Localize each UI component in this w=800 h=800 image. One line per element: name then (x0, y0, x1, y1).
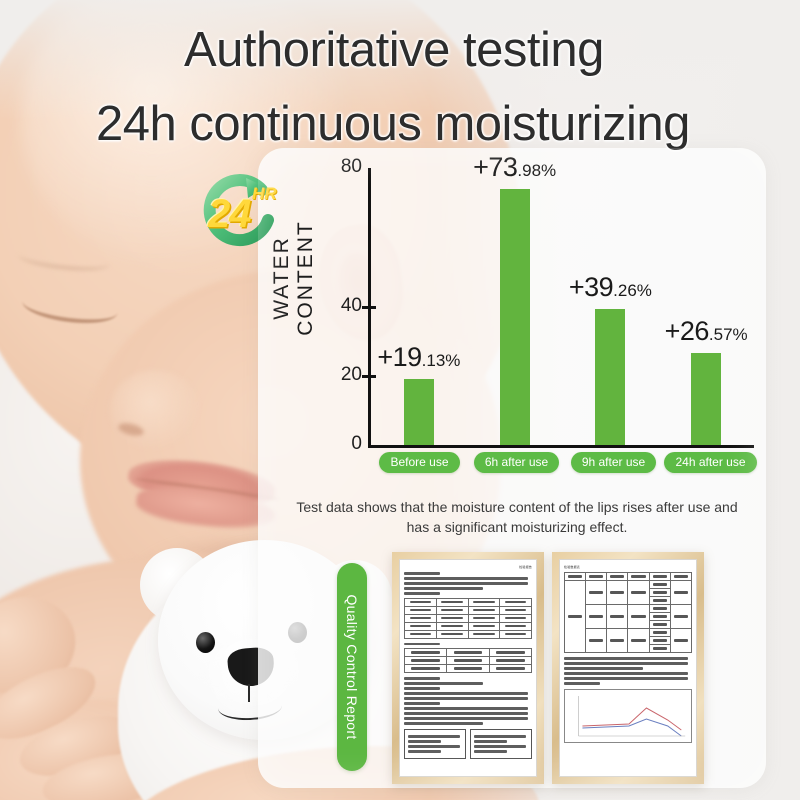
document-data-table (564, 572, 692, 653)
x-axis-line (368, 445, 754, 448)
bar (404, 379, 434, 445)
document-text-line (564, 682, 600, 685)
document-text-line (474, 750, 507, 753)
headline-primary: Authoritative testing (184, 22, 604, 78)
bar-data-label: +26.57% (665, 316, 748, 347)
document-text-line (564, 677, 688, 680)
category-pill: 6h after use (474, 452, 559, 473)
quality-control-report-label: Quality Control Report (344, 594, 360, 739)
y-axis-tick-labels: 0204080 (320, 168, 362, 448)
document-text-line (404, 697, 528, 700)
document-text-line (404, 587, 483, 590)
document-text-line (404, 577, 528, 580)
y-tick-label: 0 (322, 433, 362, 455)
document-text-line (404, 707, 528, 710)
document-text-line (404, 592, 440, 595)
document-text-line (474, 735, 526, 738)
bar-slot: +26.57% (658, 168, 754, 445)
bar-data-label-decimal: .98% (517, 161, 556, 180)
document-text-line (564, 662, 688, 665)
bar-data-label-decimal: .26% (613, 281, 652, 300)
document-text-line (564, 667, 643, 670)
document-text-line (404, 692, 528, 695)
bar-data-label-decimal: .13% (422, 351, 461, 370)
y-tick-label: 40 (322, 295, 362, 317)
bar-slot: +39.26% (563, 168, 659, 445)
test-report-thumbnail-left[interactable]: 检验报告 (392, 552, 544, 784)
category-slot: 24h after use (662, 452, 759, 473)
document-text-line (474, 740, 507, 743)
bar-data-label: +19.13% (377, 342, 460, 373)
y-tick-mark (362, 306, 376, 309)
chart-caption: Test data shows that the moisture conten… (292, 497, 742, 538)
bar-data-label-value: +39 (569, 272, 613, 302)
y-tick-label: 20 (322, 364, 362, 386)
badge-number: 24 (208, 192, 251, 237)
document-text-line (404, 682, 483, 685)
document-text-line (564, 672, 688, 675)
document-line-chart (564, 689, 692, 743)
document-text-line (408, 750, 441, 753)
document-text-line (408, 735, 460, 738)
document-page: 检验数据表 (559, 559, 697, 777)
document-page: 检验报告 (399, 559, 537, 777)
mini-line-chart-svg (565, 690, 691, 742)
document-text-line (404, 643, 440, 646)
bar-slot: +73.98% (467, 168, 563, 445)
bar-data-label: +39.26% (569, 272, 652, 303)
bar-data-label-decimal: .57% (709, 325, 748, 344)
bar-slot: +19.13% (371, 168, 467, 445)
document-text-line (564, 657, 688, 660)
teddy-eye (196, 632, 215, 653)
document-text-line (404, 582, 528, 585)
document-text-line (404, 712, 528, 715)
document-box (404, 729, 466, 760)
bar-data-label: +73.98% (473, 152, 556, 183)
bars-plot-area: +19.13%+73.98%+39.26%+26.57% (371, 168, 754, 445)
document-text-line (404, 572, 440, 575)
category-slot: 9h after use (565, 452, 662, 473)
document-bottom-boxes (404, 729, 532, 760)
document-header-right: 检验数据表 (564, 565, 692, 569)
promo-image: Authoritative testing 24h continuous moi… (0, 0, 800, 800)
quality-control-report-tab[interactable]: Quality Control Report (337, 563, 367, 771)
bar (691, 353, 721, 445)
x-axis-category-pills: Before use6h after use9h after use24h af… (371, 452, 759, 474)
y-tick-label: 80 (322, 156, 362, 178)
document-text-line (474, 745, 526, 748)
category-pill: 24h after use (664, 452, 756, 473)
document-text-line (404, 702, 440, 705)
category-slot: Before use (371, 452, 468, 473)
category-pill: Before use (379, 452, 459, 473)
document-text-line (404, 717, 528, 720)
bar-data-label-value: +26 (665, 316, 709, 346)
document-text-line (404, 722, 483, 725)
document-table (404, 648, 532, 673)
document-header-left: 检验报告 (404, 565, 532, 569)
bar (595, 309, 625, 445)
y-tick-mark (362, 375, 376, 378)
headline-secondary: 24h continuous moisturizing (96, 96, 690, 152)
document-text-line (404, 687, 440, 690)
document-text-line (408, 740, 441, 743)
bar-data-label-value: +19 (377, 342, 421, 372)
category-slot: 6h after use (468, 452, 565, 473)
baby-nose (110, 370, 200, 450)
bar-data-label-value: +73 (473, 152, 517, 182)
water-content-bar-chart: WATER CONTENT 0204080 +19.13%+73.98%+39.… (278, 168, 758, 488)
test-report-thumbnail-right[interactable]: 检验数据表 (552, 552, 704, 784)
document-text-line (404, 677, 440, 680)
y-axis-title: WATER CONTENT (270, 178, 318, 378)
document-text-line (408, 745, 460, 748)
category-pill: 9h after use (571, 452, 656, 473)
document-box (470, 729, 532, 760)
document-table (404, 598, 532, 639)
bar (500, 189, 530, 445)
